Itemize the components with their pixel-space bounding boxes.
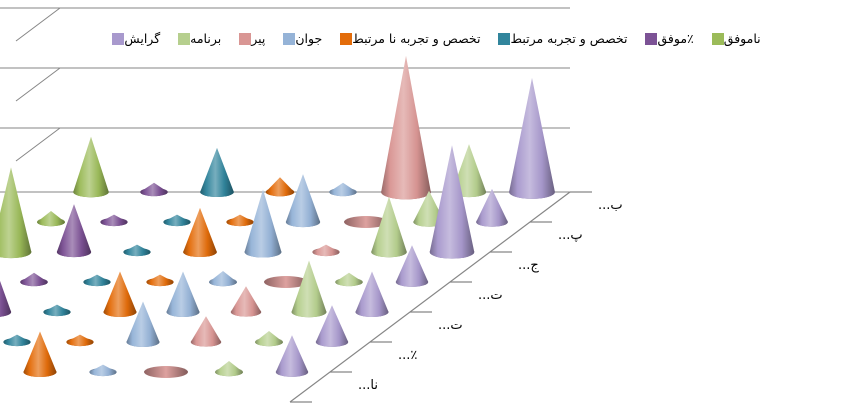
cone-marker bbox=[183, 208, 217, 257]
depth-axis-label-2: ج... bbox=[518, 258, 539, 273]
cone-body bbox=[146, 275, 173, 286]
cone-marker bbox=[0, 264, 11, 317]
cone-body bbox=[0, 264, 11, 317]
legend-item-label: برنامه bbox=[190, 33, 221, 46]
cone-series-group bbox=[0, 56, 555, 378]
cone-marker bbox=[83, 275, 110, 286]
cone-marker bbox=[292, 260, 327, 317]
cone-marker bbox=[144, 366, 188, 378]
legend-item-pir[interactable]: پیر bbox=[233, 33, 265, 46]
cone-body bbox=[0, 167, 31, 258]
depth-axis-label-6: نا... bbox=[358, 378, 378, 393]
cone-body bbox=[23, 332, 56, 377]
cone-body bbox=[3, 335, 30, 346]
cone-marker bbox=[255, 331, 283, 346]
cone-body bbox=[183, 208, 217, 257]
cone-body bbox=[191, 316, 221, 346]
cone-body bbox=[355, 272, 388, 317]
cone-body bbox=[83, 275, 110, 286]
legend-swatch-icon bbox=[712, 33, 724, 45]
cone-marker bbox=[89, 365, 116, 376]
cone-marker bbox=[166, 272, 199, 317]
cone-marker bbox=[209, 271, 237, 286]
cone-marker bbox=[509, 78, 555, 199]
cone-body bbox=[20, 273, 48, 286]
cone-marker bbox=[3, 335, 30, 346]
side-wall-edge-2 bbox=[16, 128, 60, 161]
cone-body bbox=[166, 272, 199, 317]
cone-marker bbox=[37, 211, 65, 226]
cone-body bbox=[292, 260, 327, 317]
cone-body bbox=[231, 286, 261, 316]
cone-body bbox=[286, 174, 320, 227]
cone-marker bbox=[73, 137, 109, 198]
cone-marker bbox=[20, 273, 48, 286]
cone-body bbox=[226, 215, 253, 226]
cone-marker bbox=[355, 272, 388, 317]
legend-item-label: پیر bbox=[251, 33, 265, 46]
cone-body bbox=[89, 365, 116, 376]
cone-body bbox=[163, 215, 190, 226]
cone-marker bbox=[66, 335, 93, 346]
cone-marker bbox=[215, 361, 243, 376]
cone-marker bbox=[286, 174, 320, 227]
cone-marker bbox=[266, 177, 295, 196]
cone-marker bbox=[43, 305, 70, 316]
cone-body bbox=[329, 183, 357, 196]
legend-item-takhasos-na-mortabet[interactable]: تخصص و تجربه نا مرتبط bbox=[334, 33, 480, 46]
legend-item-label: تخصص و تجربه مرتبط bbox=[510, 33, 627, 46]
legend-item-label: تخصص و تجربه نا مرتبط bbox=[352, 33, 480, 46]
legend-item-label: گرایش bbox=[124, 33, 160, 46]
cone-marker bbox=[335, 273, 363, 286]
cone-marker bbox=[57, 204, 91, 257]
legend-swatch-icon bbox=[498, 33, 510, 45]
cone-body bbox=[123, 245, 150, 256]
cone-body bbox=[312, 245, 339, 256]
depth-axis-label-4: ت... bbox=[438, 318, 463, 333]
cone-body bbox=[200, 148, 234, 197]
legend-swatch-icon bbox=[340, 33, 352, 45]
legend-item-javan[interactable]: جوان bbox=[277, 33, 322, 46]
cone-marker bbox=[231, 286, 261, 316]
legend-swatch-icon bbox=[112, 33, 124, 45]
cone-body bbox=[57, 204, 91, 257]
cone-marker bbox=[191, 316, 221, 346]
cone-body bbox=[103, 272, 136, 317]
depth-axis-label-1: پ... bbox=[558, 228, 583, 243]
cone-body bbox=[509, 78, 555, 199]
cone-body bbox=[43, 305, 70, 316]
cone-marker bbox=[163, 215, 190, 226]
cone-body bbox=[335, 273, 363, 286]
cone-marker bbox=[226, 215, 253, 226]
legend-item-movafagh-percent[interactable]: ٪موفق bbox=[639, 33, 693, 46]
cone-marker bbox=[0, 167, 31, 258]
side-wall-edge-1 bbox=[16, 68, 60, 101]
cone-body bbox=[140, 183, 168, 196]
cone-marker bbox=[146, 275, 173, 286]
legend-swatch-icon bbox=[239, 33, 251, 45]
depth-axis-label-3: ت... bbox=[478, 288, 503, 303]
depth-axis-label-0: ب... bbox=[598, 198, 623, 213]
legend-swatch-icon bbox=[178, 33, 190, 45]
legend-item-barnameh[interactable]: برنامه bbox=[172, 33, 221, 46]
cone-marker bbox=[200, 148, 234, 197]
cone-marker bbox=[123, 245, 150, 256]
chart-legend[interactable]: گرایشبرنامهپیرجوانتخصص و تجربه نا مرتبطت… bbox=[0, 28, 867, 50]
legend-item-gerayesh[interactable]: گرایش bbox=[106, 33, 160, 46]
legend-swatch-icon bbox=[283, 33, 295, 45]
depth-axis-label-5: ٪... bbox=[398, 348, 417, 363]
legend-item-label: ناموفق bbox=[724, 33, 761, 46]
cone-body bbox=[66, 335, 93, 346]
cone-marker bbox=[100, 215, 127, 226]
legend-item-label: جوان bbox=[295, 33, 322, 46]
cone-marker bbox=[103, 272, 136, 317]
legend-item-label: ٪موفق bbox=[657, 33, 693, 46]
cone-base-ellipse bbox=[144, 366, 188, 378]
legend-item-takhasos-mortabet[interactable]: تخصص و تجربه مرتبط bbox=[492, 33, 627, 46]
legend-swatch-icon bbox=[645, 33, 657, 45]
cone-body bbox=[37, 211, 65, 226]
cone-body bbox=[209, 271, 237, 286]
cone-chart-3d[interactable]: گرایشبرنامهپیرجوانتخصص و تجربه نا مرتبطت… bbox=[0, 0, 867, 408]
cone-marker bbox=[312, 245, 339, 256]
cone-body bbox=[215, 361, 243, 376]
cone-body bbox=[73, 137, 109, 198]
cone-body bbox=[255, 331, 283, 346]
chart-canvas bbox=[0, 0, 867, 408]
legend-item-namovafagh[interactable]: ناموفق bbox=[706, 33, 761, 46]
cone-marker bbox=[329, 183, 357, 196]
cone-body bbox=[100, 215, 127, 226]
cone-marker bbox=[23, 332, 56, 377]
cone-marker bbox=[140, 183, 168, 196]
cone-body bbox=[266, 177, 295, 196]
